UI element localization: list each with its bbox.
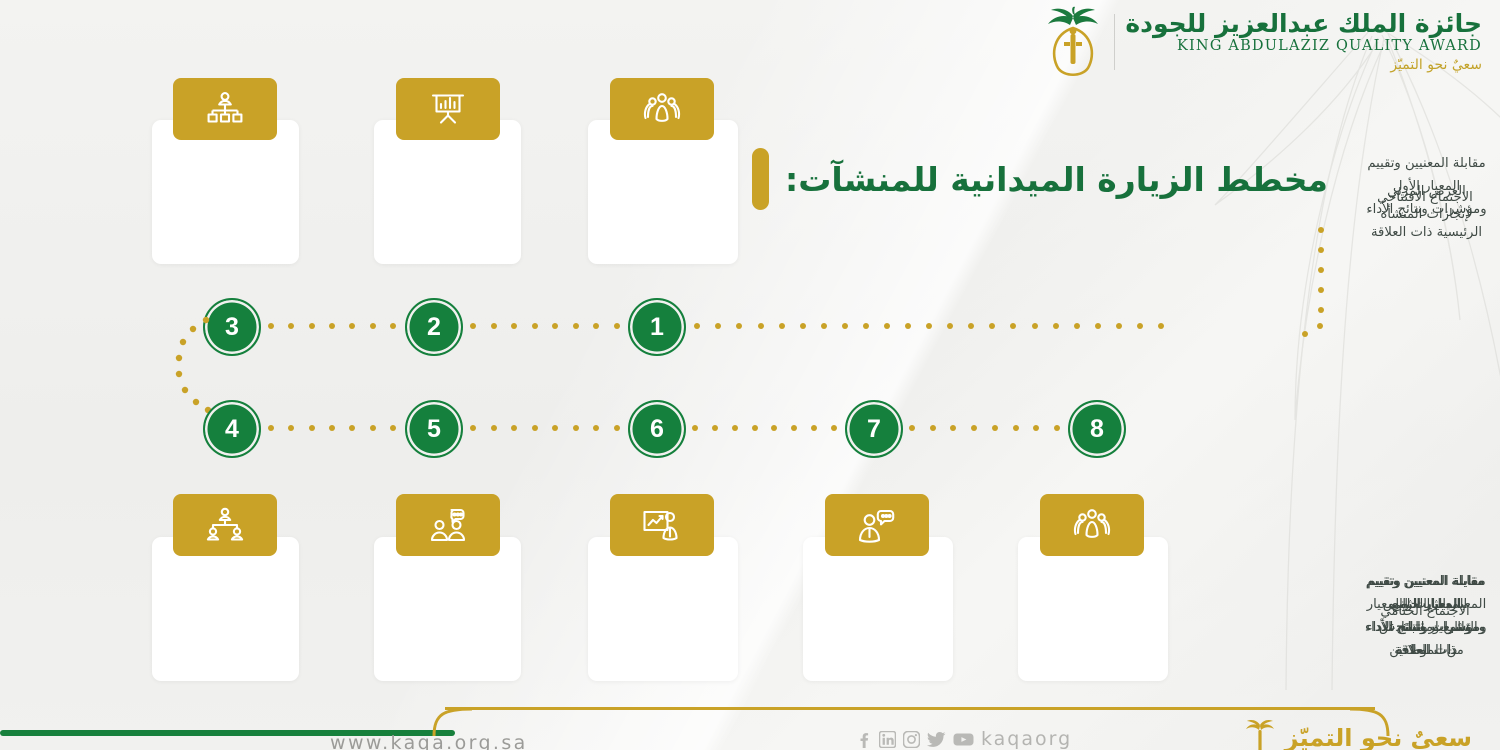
step-number-3: 3	[225, 315, 239, 340]
step-node-2[interactable]: 2	[405, 298, 463, 356]
brand-logo: جائزة الملك عبدالعزيز للجودة KING ABDULA…	[1042, 6, 1482, 78]
step-number-8: 8	[1090, 417, 1104, 442]
infographic-canvas: جائزة الملك عبدالعزيز للجودة KING ABDULA…	[0, 0, 1500, 750]
brand-logo-text: جائزة الملك عبدالعزيز للجودة KING ABDULA…	[1125, 11, 1482, 72]
palm-tree-logo-icon	[1243, 718, 1277, 750]
twitter-icon[interactable]	[927, 731, 946, 748]
person-chart-board-icon	[641, 507, 683, 543]
step-card-6[interactable]	[588, 537, 738, 681]
footer-website-link[interactable]: www.kaqa.org.sa	[330, 732, 528, 750]
group-people-icon	[642, 91, 682, 127]
connector-6-to-7	[692, 423, 837, 432]
step-node-7[interactable]: 7	[845, 400, 903, 458]
footer-social-links: kaqaorg	[855, 728, 1076, 750]
step-card-5[interactable]	[374, 537, 521, 681]
team-hierarchy-icon	[204, 507, 246, 543]
instagram-icon[interactable]	[903, 731, 920, 748]
two-people-chat-icon	[427, 507, 469, 543]
connector-1-to-title	[694, 321, 1164, 330]
connector-4-to-5	[268, 423, 396, 432]
brand-name-english: KING ABDULAZIZ QUALITY AWARD	[1125, 39, 1482, 54]
page-title-group: مخطط الزيارة الميدانية للمنشآت:	[752, 148, 1328, 210]
palm-tree-logo-icon	[1042, 6, 1104, 78]
step-node-4[interactable]: 4	[203, 400, 261, 458]
step-card-8[interactable]	[1018, 537, 1168, 681]
step-number-6: 6	[650, 417, 664, 442]
step-card-4[interactable]	[152, 537, 299, 681]
connector-2-to-1	[470, 321, 620, 330]
logo-divider	[1114, 14, 1115, 70]
step-card-3[interactable]	[152, 120, 299, 264]
page-footer: www.kaqa.org.sa kaq	[0, 702, 1500, 750]
page-title: مخطط الزيارة الميدانية للمنشآت:	[785, 160, 1328, 199]
connector-5-to-6	[470, 423, 620, 432]
step-card-1[interactable]	[588, 120, 738, 264]
step-icon-2	[396, 78, 500, 140]
step-number-4: 4	[225, 417, 239, 442]
step-card-7[interactable]	[803, 537, 953, 681]
footer-social-handle: kaqaorg	[981, 728, 1072, 750]
brand-name-arabic: جائزة الملك عبدالعزيز للجودة	[1125, 11, 1482, 37]
step-node-5[interactable]: 5	[405, 400, 463, 458]
step-number-2: 2	[427, 315, 441, 340]
step-node-6[interactable]: 6	[628, 400, 686, 458]
brand-slogan: سعيٌ نحو التميّز	[1125, 58, 1482, 73]
step-card-2[interactable]	[374, 120, 521, 264]
step-number-1: 1	[650, 315, 664, 340]
step-node-8[interactable]: 8	[1068, 400, 1126, 458]
group-people-icon	[1072, 507, 1112, 543]
facebook-icon[interactable]	[855, 731, 872, 748]
step-icon-4	[173, 494, 277, 556]
step-icon-6	[610, 494, 714, 556]
title-accent-bar	[752, 148, 769, 210]
connector-3-to-2	[268, 321, 396, 330]
person-speech-bubble-icon	[856, 507, 898, 543]
connector-7-to-8	[909, 423, 1060, 432]
step-icon-7	[825, 494, 929, 556]
step-number-5: 5	[427, 417, 441, 442]
step-icon-8	[1040, 494, 1144, 556]
linkedin-icon[interactable]	[879, 731, 896, 748]
title-dotted-tail	[1295, 222, 1335, 340]
step-icon-1	[610, 78, 714, 140]
youtube-icon[interactable]	[953, 731, 974, 748]
step-text-8: الاجتماع الختامي	[1350, 600, 1500, 623]
step-node-1[interactable]: 1	[628, 298, 686, 356]
presentation-chart-icon	[428, 91, 468, 127]
step-number-7: 7	[867, 417, 881, 442]
step-text-1: الاجتماع الافتتاحي	[1350, 186, 1500, 209]
step-icon-3	[173, 78, 277, 140]
org-chart-icon	[205, 91, 245, 127]
footer-slogan: سعيٌ نحو التميّز	[1285, 724, 1472, 750]
step-icon-5	[396, 494, 500, 556]
footer-slogan-group: سعيٌ نحو التميّز	[1243, 718, 1472, 750]
